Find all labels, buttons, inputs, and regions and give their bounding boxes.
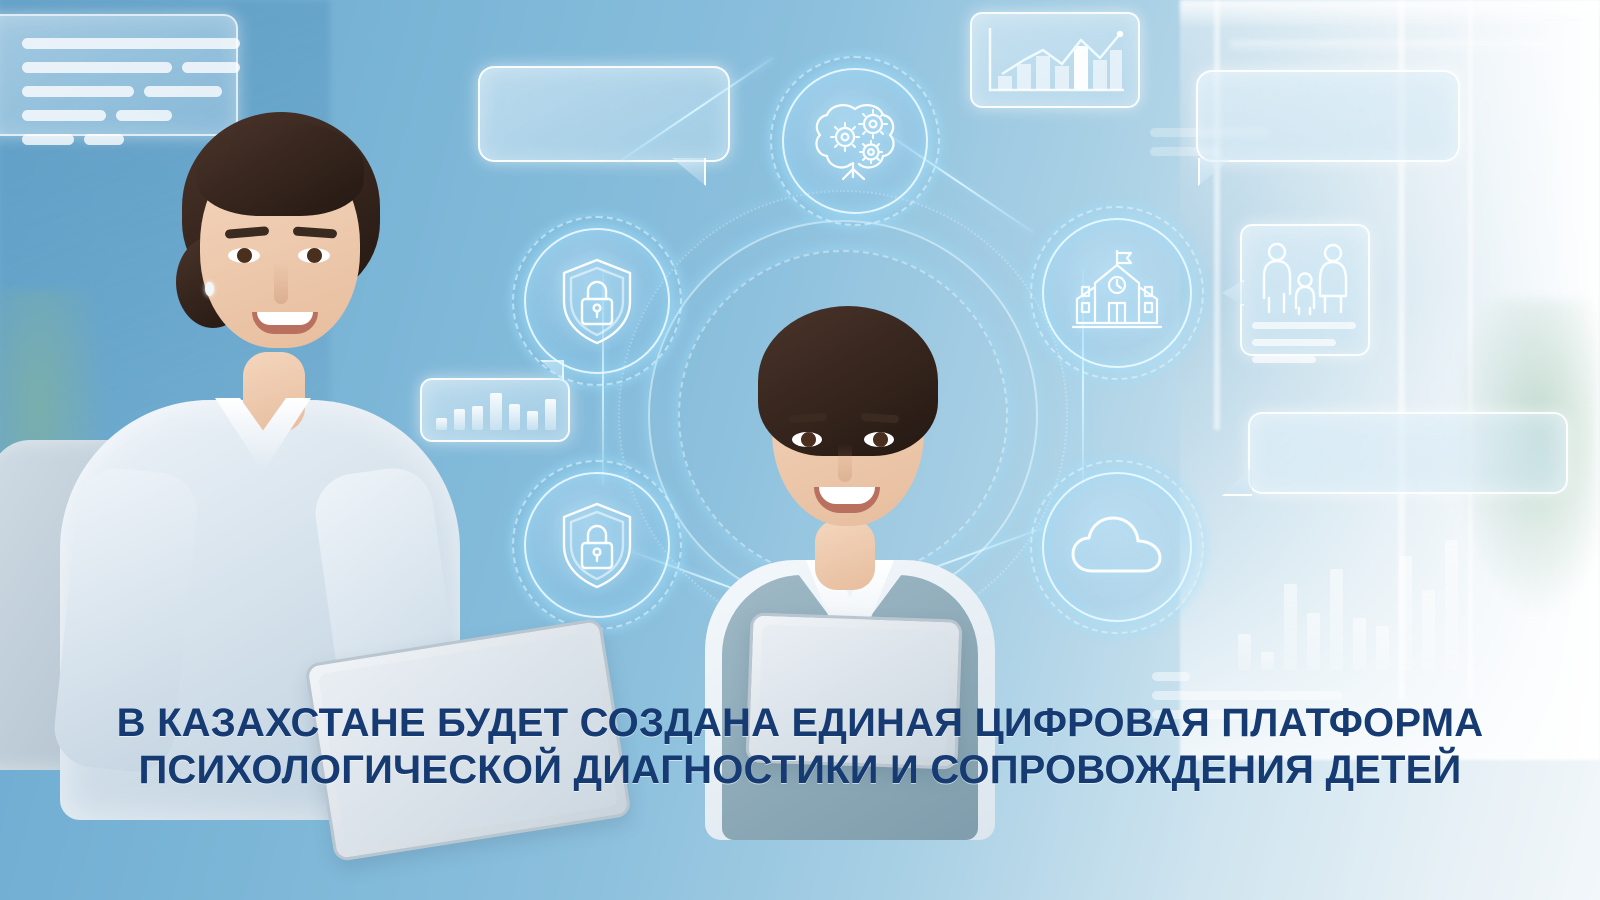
headline-line-1: В КАЗАХСТАНЕ БУДЕТ СОЗДАНА ЕДИНАЯ ЦИФРОВ… xyxy=(0,700,1600,747)
banner-image: В КАЗАХСТАНЕ БУДЕТ СОЗДАНА ЕДИНАЯ ЦИФРОВ… xyxy=(0,0,1600,900)
schoolboy-hair xyxy=(758,306,938,456)
schoolboy-eye xyxy=(792,432,822,447)
cloud-icon xyxy=(1068,513,1166,581)
school-building-icon xyxy=(1069,247,1165,339)
family-icon xyxy=(1255,240,1355,316)
schoolboy-eye xyxy=(864,432,894,447)
family-card-text-lines xyxy=(1252,322,1356,363)
brain-gears-icon xyxy=(809,97,901,185)
headline-line-2: ПСИХОЛОГИЧЕСКОЙ ДИАГНОСТИКИ И СОПРОВОЖДЕ… xyxy=(0,747,1600,794)
shield-lock-icon xyxy=(554,255,640,347)
schoolboy-nose xyxy=(838,444,852,482)
background-bar-chart xyxy=(1238,540,1458,670)
shield-lock-icon xyxy=(554,499,640,591)
bubble-bottom-right xyxy=(1248,412,1568,494)
page-title: В КАЗАХСТАНЕ БУДЕТ СОЗДАНА ЕДИНАЯ ЦИФРОВ… xyxy=(0,700,1600,794)
ceiling-beam xyxy=(1180,0,1600,26)
ceiling-beam xyxy=(1230,40,1600,52)
schoolboy-neck xyxy=(815,520,875,590)
bubble-top-right xyxy=(1196,70,1460,162)
